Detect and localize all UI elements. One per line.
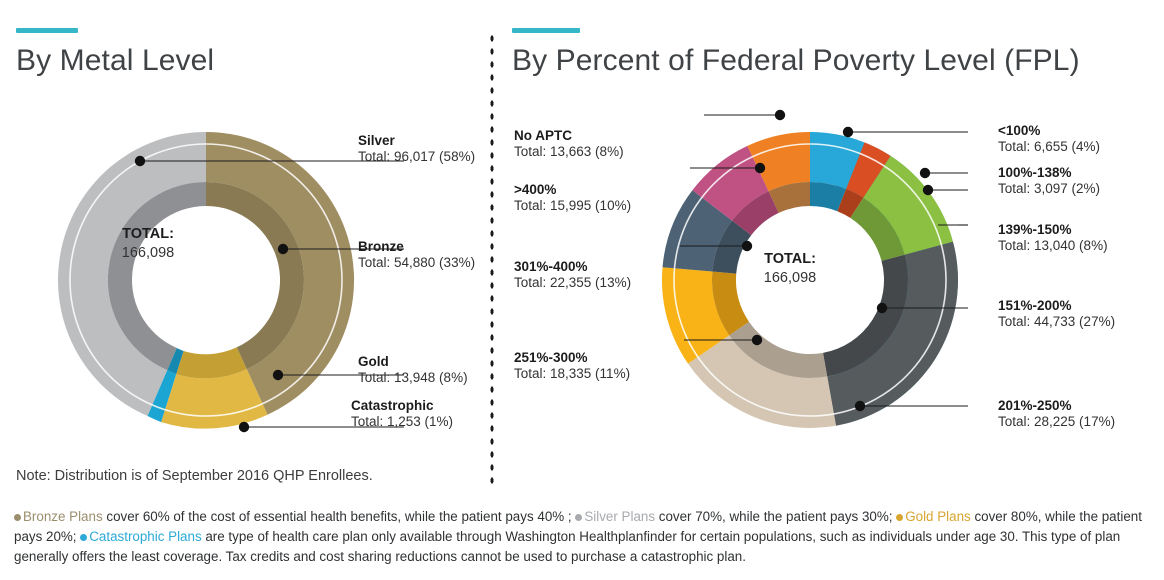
callout-bronze-value: Total: 54,880 (33%) xyxy=(358,255,475,271)
callout-301-400-name: 301%-400% xyxy=(514,259,631,275)
legend-bronze-text: cover 60% of the cost of essential healt… xyxy=(103,509,576,524)
callout-silver-value: Total: 96,017 (58%) xyxy=(358,149,475,165)
callout-gold-value: Total: 13,948 (8%) xyxy=(358,370,468,386)
callout-139-150-name: 139%-150% xyxy=(998,222,1108,238)
callout-151-200-value: Total: 44,733 (27%) xyxy=(998,314,1115,330)
callout-201-250-name: 201%-250% xyxy=(998,398,1115,414)
center-total-label-fpl: TOTAL: xyxy=(720,250,860,269)
panel-by-metal-level: By Metal Level xyxy=(0,0,490,495)
panel-by-fpl: By Percent of Federal Poverty Level (FPL… xyxy=(490,0,1164,495)
callout-100-138-value: Total: 3,097 (2%) xyxy=(998,181,1100,197)
callout-lt100-name: <100% xyxy=(998,123,1100,139)
callout-139-150: 139%-150% Total: 13,040 (8%) xyxy=(998,222,1108,255)
legend-silver-text: cover 70%, while the patient pays 30%; xyxy=(655,509,896,524)
callout-201-250-value: Total: 28,225 (17%) xyxy=(998,414,1115,430)
accent-bar-right xyxy=(512,28,580,33)
callout-100-138: 100%-138% Total: 3,097 (2%) xyxy=(998,165,1100,198)
callout-gold-name: Gold xyxy=(358,354,468,370)
bullet-catastrophic-icon xyxy=(80,534,87,541)
bullet-bronze-icon xyxy=(14,514,21,521)
legend-bronze-name: Bronze Plans xyxy=(23,509,103,524)
callout-no-aptc-value: Total: 13,663 (8%) xyxy=(514,144,624,160)
center-total-metal: TOTAL: 166,098 xyxy=(78,225,218,263)
callout-301-400: 301%-400% Total: 22,355 (13%) xyxy=(514,259,631,292)
callout-139-150-value: Total: 13,040 (8%) xyxy=(998,238,1108,254)
callout-catastrophic: Catastrophic Total: 1,253 (1%) xyxy=(351,398,453,431)
callout-bronze: Bronze Total: 54,880 (33%) xyxy=(358,239,475,272)
callout-catastrophic-value: Total: 1,253 (1%) xyxy=(351,414,453,430)
callout-gt400-value: Total: 15,995 (10%) xyxy=(514,198,631,214)
donut-chart-metal-level xyxy=(58,100,358,450)
center-total-value-fpl: 166,098 xyxy=(720,269,860,288)
callout-no-aptc-name: No APTC xyxy=(514,128,624,144)
callout-gold: Gold Total: 13,948 (8%) xyxy=(358,354,468,387)
legend-silver-name: Silver Plans xyxy=(584,509,655,524)
callout-lt100: <100% Total: 6,655 (4%) xyxy=(998,123,1100,156)
callout-bronze-name: Bronze xyxy=(358,239,475,255)
callout-301-400-value: Total: 22,355 (13%) xyxy=(514,275,631,291)
callout-151-200-name: 151%-200% xyxy=(998,298,1115,314)
legend-plan-descriptions: Bronze Plans cover 60% of the cost of es… xyxy=(0,503,1164,573)
bullet-gold-icon xyxy=(896,514,903,521)
center-total-value: 166,098 xyxy=(78,244,218,263)
callout-251-300-name: 251%-300% xyxy=(514,350,630,366)
callout-catastrophic-name: Catastrophic xyxy=(351,398,453,414)
callout-151-200: 151%-200% Total: 44,733 (27%) xyxy=(998,298,1115,331)
callout-100-138-name: 100%-138% xyxy=(998,165,1100,181)
callout-201-250: 201%-250% Total: 28,225 (17%) xyxy=(998,398,1115,431)
callout-no-aptc: No APTC Total: 13,663 (8%) xyxy=(514,128,624,161)
page-title-fpl: By Percent of Federal Poverty Level (FPL… xyxy=(512,44,1080,78)
callout-gt400-name: >400% xyxy=(514,182,631,198)
center-total-fpl: TOTAL: 166,098 xyxy=(720,250,860,288)
bullet-silver-icon xyxy=(575,514,582,521)
donut-svg-metal xyxy=(58,100,358,450)
callout-silver: Silver Total: 96,017 (58%) xyxy=(358,133,475,166)
note-text: Note: Distribution is of September 2016 … xyxy=(16,468,373,484)
callout-251-300-value: Total: 18,335 (11%) xyxy=(514,366,630,382)
center-total-label: TOTAL: xyxy=(78,225,218,244)
callout-251-300: 251%-300% Total: 18,335 (11%) xyxy=(514,350,630,383)
page-title-metal-level: By Metal Level xyxy=(16,44,214,78)
legend-catastrophic-name: Catastrophic Plans xyxy=(89,529,201,544)
accent-bar-left xyxy=(16,28,78,33)
callout-gt400: >400% Total: 15,995 (10%) xyxy=(514,182,631,215)
callout-lt100-value: Total: 6,655 (4%) xyxy=(998,139,1100,155)
callout-silver-name: Silver xyxy=(358,133,475,149)
legend-gold-name: Gold Plans xyxy=(905,509,971,524)
